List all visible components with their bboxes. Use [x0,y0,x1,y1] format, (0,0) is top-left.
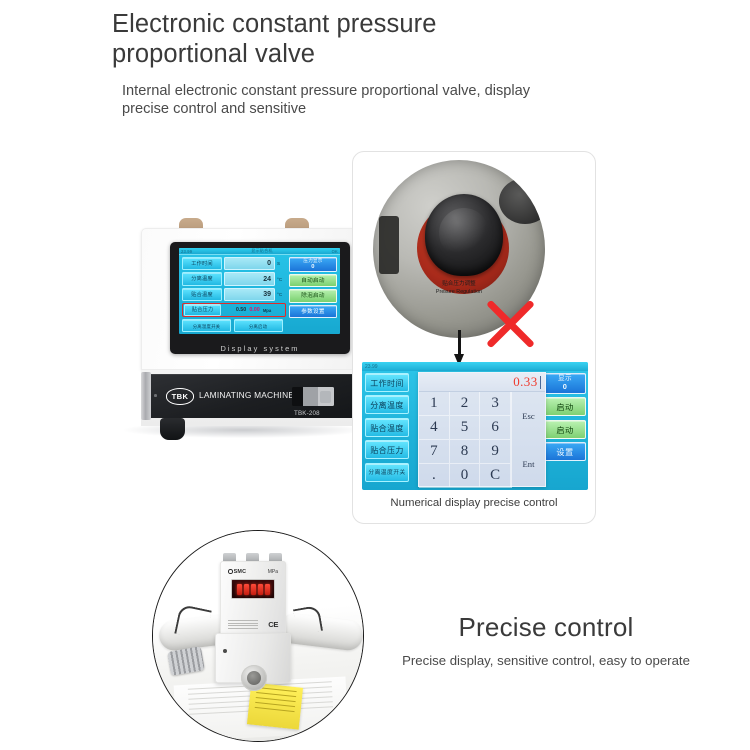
hmi-right-column: 压力显示 0 自动启动 除泡启动 参数设置 [289,257,337,332]
hmi-value-working-time: 0 [224,257,275,270]
hmi-unit-working-time: S [277,261,286,266]
machine-model-number: TBK-208 [294,410,320,417]
keypad-button-display[interactable]: 显示 0 [544,373,586,394]
tbk-logo: TBK [166,388,194,405]
panel-indicator-dot [154,394,157,397]
hmi-label-working-time[interactable]: 工作时间 [182,257,222,270]
key-6[interactable]: 6 [480,416,511,440]
base-indicator-dot [223,649,227,653]
hmi-value-separation-temp: 24 [224,272,275,285]
keypad-entry-field[interactable]: 0.33 [419,373,545,392]
precise-control-title: Precise control [386,612,706,643]
key-1[interactable]: 1 [419,392,450,416]
card-caption: Numerical display precise control [353,497,595,509]
hmi-titlebar-left: 23.99 [181,249,192,254]
key-escape[interactable]: Esc [512,392,545,440]
keypad-button-laminating-pressure[interactable]: 贴合压力 [365,440,409,459]
machine-foot [160,418,185,440]
key-7[interactable]: 7 [419,440,450,464]
pressure-sensor-photo: SMC MPa CE [152,530,364,742]
page-title: Electronic constant pressure proportiona… [112,10,532,69]
hmi-row-bottom: 分离温度开关 分离启动 [182,319,286,332]
red-x-icon [483,296,539,352]
hmi-button-pressure-display[interactable]: 压力显示 0 [289,257,337,272]
unit-head: SMC MPa CE [220,561,286,635]
hmi-label-laminating-temp[interactable]: 贴合温度 [182,288,222,301]
hmi-button-separation-switch[interactable]: 分离温度开关 [182,319,231,332]
keypad-display-value: 0 [545,383,585,391]
regulator-label: 贴合压力调整 Presure Regulation [373,280,545,297]
led-display [231,579,275,599]
key-clear[interactable]: C [480,464,511,488]
circle-frame: SMC MPa CE [152,530,364,742]
keypad-button-separation-temp[interactable]: 分离温度 [365,395,409,414]
display-system-label: Display system [170,342,350,356]
keypad-entry-value: 0.33 [513,374,537,390]
keypad-screen[interactable]: 23.99 工作时间 分离温度 贴合温度 贴合压力 分离温度开关 显示 0 启动 [362,362,588,490]
keypad-button-separation-switch[interactable]: 分离温度开关 [365,463,409,482]
keypad-side-keys: Esc Ent [511,392,545,488]
key-3[interactable]: 3 [480,392,511,416]
key-0[interactable]: 0 [450,464,481,488]
hmi-button-separation-start[interactable]: 分离启动 [234,319,283,332]
smc-regulator-unit: SMC MPa CE [215,553,291,689]
cable-left [174,604,212,640]
product-infographic: Electronic constant pressure proportiona… [0,0,750,750]
hmi-titlebar: 23.99 显示贴合机 OK [179,248,340,255]
hmi-screen[interactable]: 23.99 显示贴合机 OK 工作时间 0 S 分离温度 24 °C [179,248,340,334]
regulator-dark-edge [379,216,399,274]
hmi-pressure-values: 0.50 0.00 Mpa [223,307,284,313]
hmi-titlebar-right: OK [332,249,338,254]
sensor-unit-label: MPa [268,569,278,575]
keypad-button-start-debubble[interactable]: 启动 [544,420,586,439]
hmi-pressure-display-value: 0 [290,264,336,270]
hmi-pressure-actual: 0.00 [249,307,260,313]
hmi-row-laminating-temp: 贴合温度 39 °C [182,288,286,301]
key-enter[interactable]: Ent [512,440,545,488]
spec-text-lines [228,620,258,630]
detail-card: 贴合压力调整 Presure Regulation 23.99 工作时间 分离温… [352,151,596,524]
numeric-keypad-overlay[interactable]: 0.33 1 2 3 4 5 6 7 8 9 . 0 [418,372,546,487]
key-8[interactable]: 8 [450,440,481,464]
hmi-value-laminating-temp: 39 [224,288,275,301]
smc-brand-label: SMC [228,569,246,575]
regulator-knob [425,194,503,276]
machine-side-rail [141,372,151,420]
hmi-left-column: 工作时间 0 S 分离温度 24 °C 贴合温度 39 °C [182,257,286,332]
keypad-keys-area: 1 2 3 4 5 6 7 8 9 . 0 C Esc [419,392,545,488]
hmi-pressure-unit: Mpa [263,308,271,313]
keypad-number-grid: 1 2 3 4 5 6 7 8 9 . 0 C [419,392,511,488]
keypad-button-start-auto[interactable]: 启动 [544,397,586,416]
laminating-machine-photo: 23.99 显示贴合机 OK 工作时间 0 S 分离温度 24 °C [118,196,368,486]
hmi-pressure-set: 0.50 [236,307,247,313]
smc-brand-text: SMC [234,569,247,575]
hmi-unit-separation-temp: °C [277,277,286,282]
hmi-row-separation-temp: 分离温度 24 °C [182,272,286,285]
hmi-button-debubble-start[interactable]: 除泡启动 [289,289,337,302]
hmi-label-separation-temp[interactable]: 分离温度 [182,272,222,285]
keypad-right-buttons: 显示 0 启动 启动 设置 [544,373,586,487]
hmi-label-pressure[interactable]: 贴合压力 [184,304,221,316]
regulator-label-cn: 贴合压力调整 [373,280,545,288]
keypad-button-settings[interactable]: 设置 [544,442,586,461]
keypad-button-working-time[interactable]: 工作时间 [365,373,409,392]
key-4[interactable]: 4 [419,416,450,440]
machine-brand-name: LAMINATING MACHINE [199,390,294,400]
precise-control-block: Precise control Precise display, sensiti… [386,612,706,670]
keypad-left-buttons: 工作时间 分离温度 贴合温度 贴合压力 分离温度开关 [365,373,409,487]
air-port [241,665,267,691]
hmi-titlebar-center: 显示贴合机 [251,248,272,254]
precise-control-subtitle: Precise display, sensitive control, easy… [386,653,706,670]
key-5[interactable]: 5 [450,416,481,440]
text-caret [540,376,541,389]
hmi-body: 工作时间 0 S 分离温度 24 °C 贴合温度 39 °C [179,255,340,334]
down-arrow-icon [454,330,466,366]
hmi-button-parameter-settings[interactable]: 参数设置 [289,305,337,318]
key-decimal-point[interactable]: . [419,464,450,488]
hmi-row-working-time: 工作时间 0 S [182,257,286,270]
ce-mark-icon: CE [268,620,278,629]
keypad-titlebar: 23.99 [362,362,588,371]
machine-tray-slot [292,387,334,406]
regulator-gauge [499,178,545,224]
header-block: Electronic constant pressure proportiona… [112,10,532,119]
hmi-row-pressure-highlighted: 贴合压力 0.50 0.00 Mpa [182,303,286,317]
hmi-button-auto-start[interactable]: 自动启动 [289,274,337,287]
keypad-button-laminating-temp[interactable]: 贴合温度 [365,418,409,437]
keypad-titlebar-left: 23.99 [365,364,378,370]
hmi-unit-laminating-temp: °C [277,292,286,297]
key-2[interactable]: 2 [450,392,481,416]
logo-text: TBK [166,388,194,405]
page-subtitle: Internal electronic constant pressure pr… [122,83,532,119]
key-9[interactable]: 9 [480,440,511,464]
